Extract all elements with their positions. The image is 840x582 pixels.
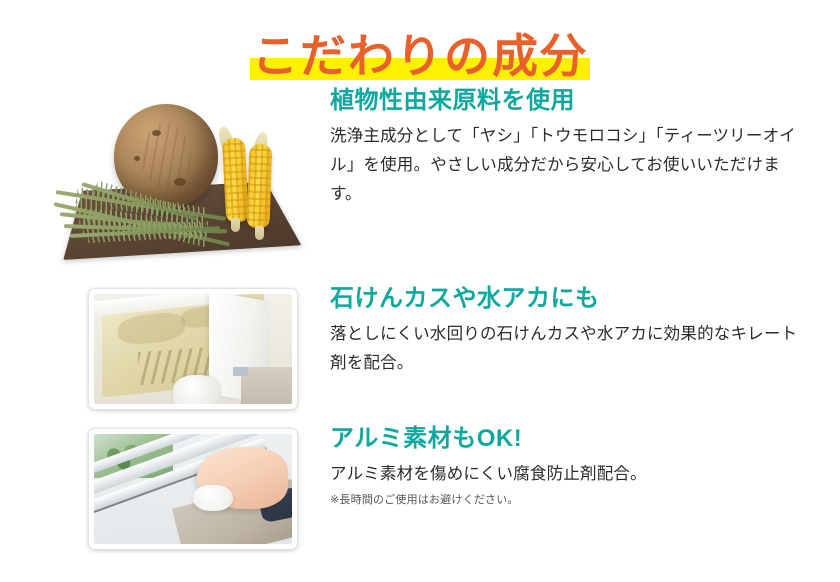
corn-stem bbox=[255, 226, 264, 240]
feature-1-text: 植物性由来原料を使用 洗浄主成分として「ヤシ」「トウモロコシ」「ティーツリーオイ… bbox=[330, 86, 840, 209]
feature-section-3: アルミ素材もOK! アルミ素材を傷めにくい腐食防止剤配合。 ※長時間のご使用はお… bbox=[0, 424, 840, 509]
aluminum-window-sill-cleaning-photo bbox=[88, 428, 298, 550]
corn-cob-icon bbox=[247, 144, 273, 229]
feature-2-body: 落としにくい水回りの石けんカスや水アカに効果的なキレート剤を配合。 bbox=[330, 320, 804, 378]
feature-3-body: アルミ素材を傷めにくい腐食防止剤配合。 bbox=[330, 460, 804, 489]
rosemary-bundle-icon bbox=[54, 182, 250, 256]
cleaning-cloth bbox=[193, 485, 233, 511]
feature-2-heading: 石けんカスや水アカにも bbox=[330, 284, 804, 314]
coconut-corn-rosemary-photo bbox=[48, 86, 310, 282]
feature-1-heading: 植物性由来原料を使用 bbox=[330, 86, 804, 116]
page-title: こだわりの成分 bbox=[0, 28, 840, 90]
bathtub-soap-scum-photo bbox=[88, 288, 298, 410]
page-title-text: こだわりの成分 bbox=[252, 30, 588, 82]
bathroom-floor bbox=[241, 367, 292, 404]
feature-3-heading: アルミ素材もOK! bbox=[330, 424, 804, 454]
feature-section-2: 石けんカスや水アカにも 落としにくい水回りの石けんカスや水アカに効果的なキレート… bbox=[0, 284, 840, 378]
feature-section-1: 植物性由来原料を使用 洗浄主成分として「ヤシ」「トウモロコシ」「ティーツリーオイ… bbox=[0, 86, 840, 209]
bathtub-control-panel bbox=[233, 367, 249, 377]
coconut-spot bbox=[134, 156, 140, 161]
feature-3-note: ※長時間のご使用はお避けください。 bbox=[330, 491, 804, 509]
feature-3-text: アルミ素材もOK! アルミ素材を傷めにくい腐食防止剤配合。 ※長時間のご使用はお… bbox=[330, 424, 840, 509]
coconut-spot bbox=[152, 130, 161, 136]
bathtub-scene bbox=[94, 294, 292, 404]
window-sill-scene bbox=[94, 434, 292, 544]
feature-2-text: 石けんカスや水アカにも 落としにくい水回りの石けんカスや水アカに効果的なキレート… bbox=[330, 284, 840, 378]
white-towel bbox=[173, 375, 221, 404]
feature-1-body: 洗浄主成分として「ヤシ」「トウモロコシ」「ティーツリーオイル」を使用。やさしい成… bbox=[330, 122, 804, 209]
